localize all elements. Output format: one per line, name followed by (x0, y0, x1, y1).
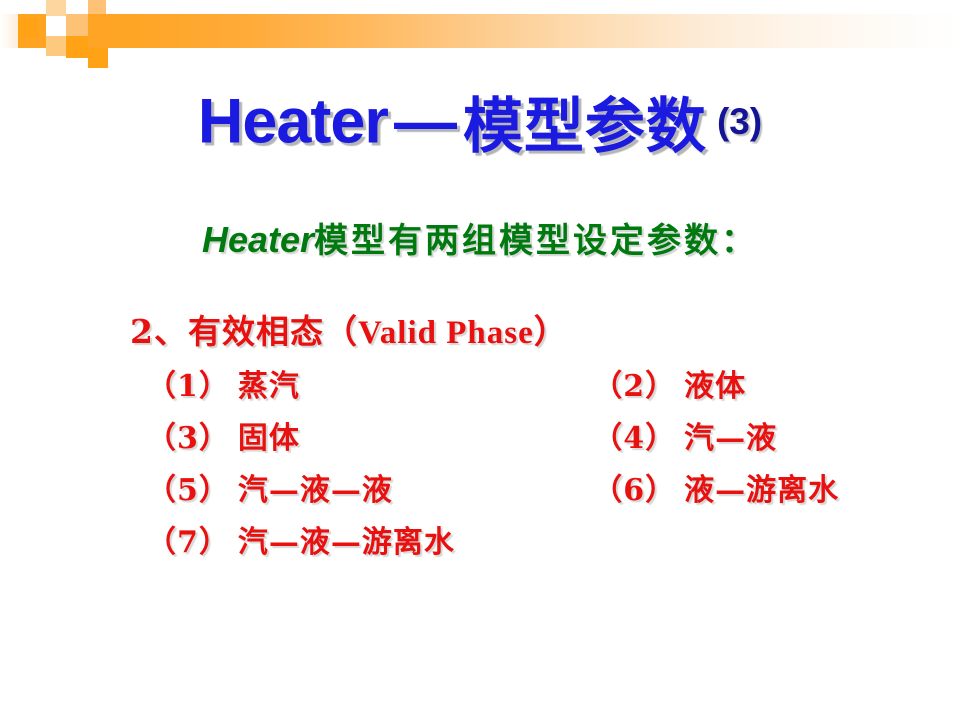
decor-square-upper (46, 0, 66, 16)
option-row-2: （3）固体 （4）汽—液 (130, 413, 960, 457)
decor-square-fade (0, 14, 18, 48)
option-row-1: （1）蒸汽 （2）液体 (130, 361, 960, 405)
body-content: 2、有效相态（Valid Phase） （1）蒸汽 （2）液体 （3）固体 （4… (130, 305, 960, 561)
title-dash: — (388, 87, 463, 157)
list-item[interactable]: （1）蒸汽 (130, 361, 592, 405)
decor-square-bright (66, 36, 88, 58)
decor-square-bottom (88, 48, 108, 68)
decor-square-accent (18, 18, 38, 38)
option-row-3: （5）汽—液—液 （6）液—游离水 (130, 465, 960, 509)
option-label: 固体 (238, 421, 300, 456)
option-number: （6） (592, 473, 676, 508)
heading-number: 2、 (130, 312, 188, 351)
option-label: 液体 (684, 369, 746, 404)
option-label: 汽—液—液 (238, 473, 393, 508)
option-label: 汽—液—游离水 (238, 525, 455, 560)
heading-paren-open: （ (324, 312, 358, 351)
decor-square-lower (46, 36, 66, 56)
option-label: 蒸汽 (238, 369, 300, 404)
decor-square-white (46, 16, 66, 36)
orange-gradient-banner (0, 14, 960, 48)
subtitle: Heater模型有两组模型设定参数： (0, 213, 960, 262)
option-number: （1） (146, 369, 230, 404)
list-item[interactable]: （7）汽—液—游离水 (130, 517, 592, 561)
list-item[interactable]: （4）汽—液 (592, 413, 960, 457)
decor-square-mid (66, 14, 88, 36)
list-item[interactable]: （2）液体 (592, 361, 960, 405)
decor-square-top (88, 0, 106, 14)
title-chinese: 模型参数 (463, 92, 707, 162)
list-item[interactable]: （5）汽—液—液 (130, 465, 592, 509)
subtitle-chinese: 模型有两组模型设定参数： (314, 221, 758, 261)
page-title: Heater—模型参数(3) (0, 78, 960, 165)
subtitle-english: Heater (202, 219, 314, 260)
heading-chinese: 有效相态 (188, 312, 324, 351)
title-english: Heater (198, 87, 388, 157)
heading-paren-close: ） (534, 312, 568, 351)
option-number: （7） (146, 525, 230, 560)
title-suffix: (3) (717, 101, 762, 142)
option-number: （4） (592, 421, 676, 456)
option-number: （2） (592, 369, 676, 404)
heading-english: Valid Phase (358, 315, 534, 351)
option-row-4: （7）汽—液—游离水 (130, 517, 960, 561)
list-item[interactable]: （6）液—游离水 (592, 465, 960, 509)
list-item[interactable]: （3）固体 (130, 413, 592, 457)
option-label: 汽—液 (684, 421, 777, 456)
list-item-empty (592, 517, 960, 561)
section-heading: 2、有效相态（Valid Phase） (130, 305, 960, 353)
slide-canvas: Heater—模型参数(3) Heater模型有两组模型设定参数： 2、有效相态… (0, 0, 960, 720)
slide-header-decoration (0, 0, 960, 70)
option-label: 液—游离水 (684, 473, 839, 508)
option-number: （5） (146, 473, 230, 508)
option-number: （3） (146, 421, 230, 456)
